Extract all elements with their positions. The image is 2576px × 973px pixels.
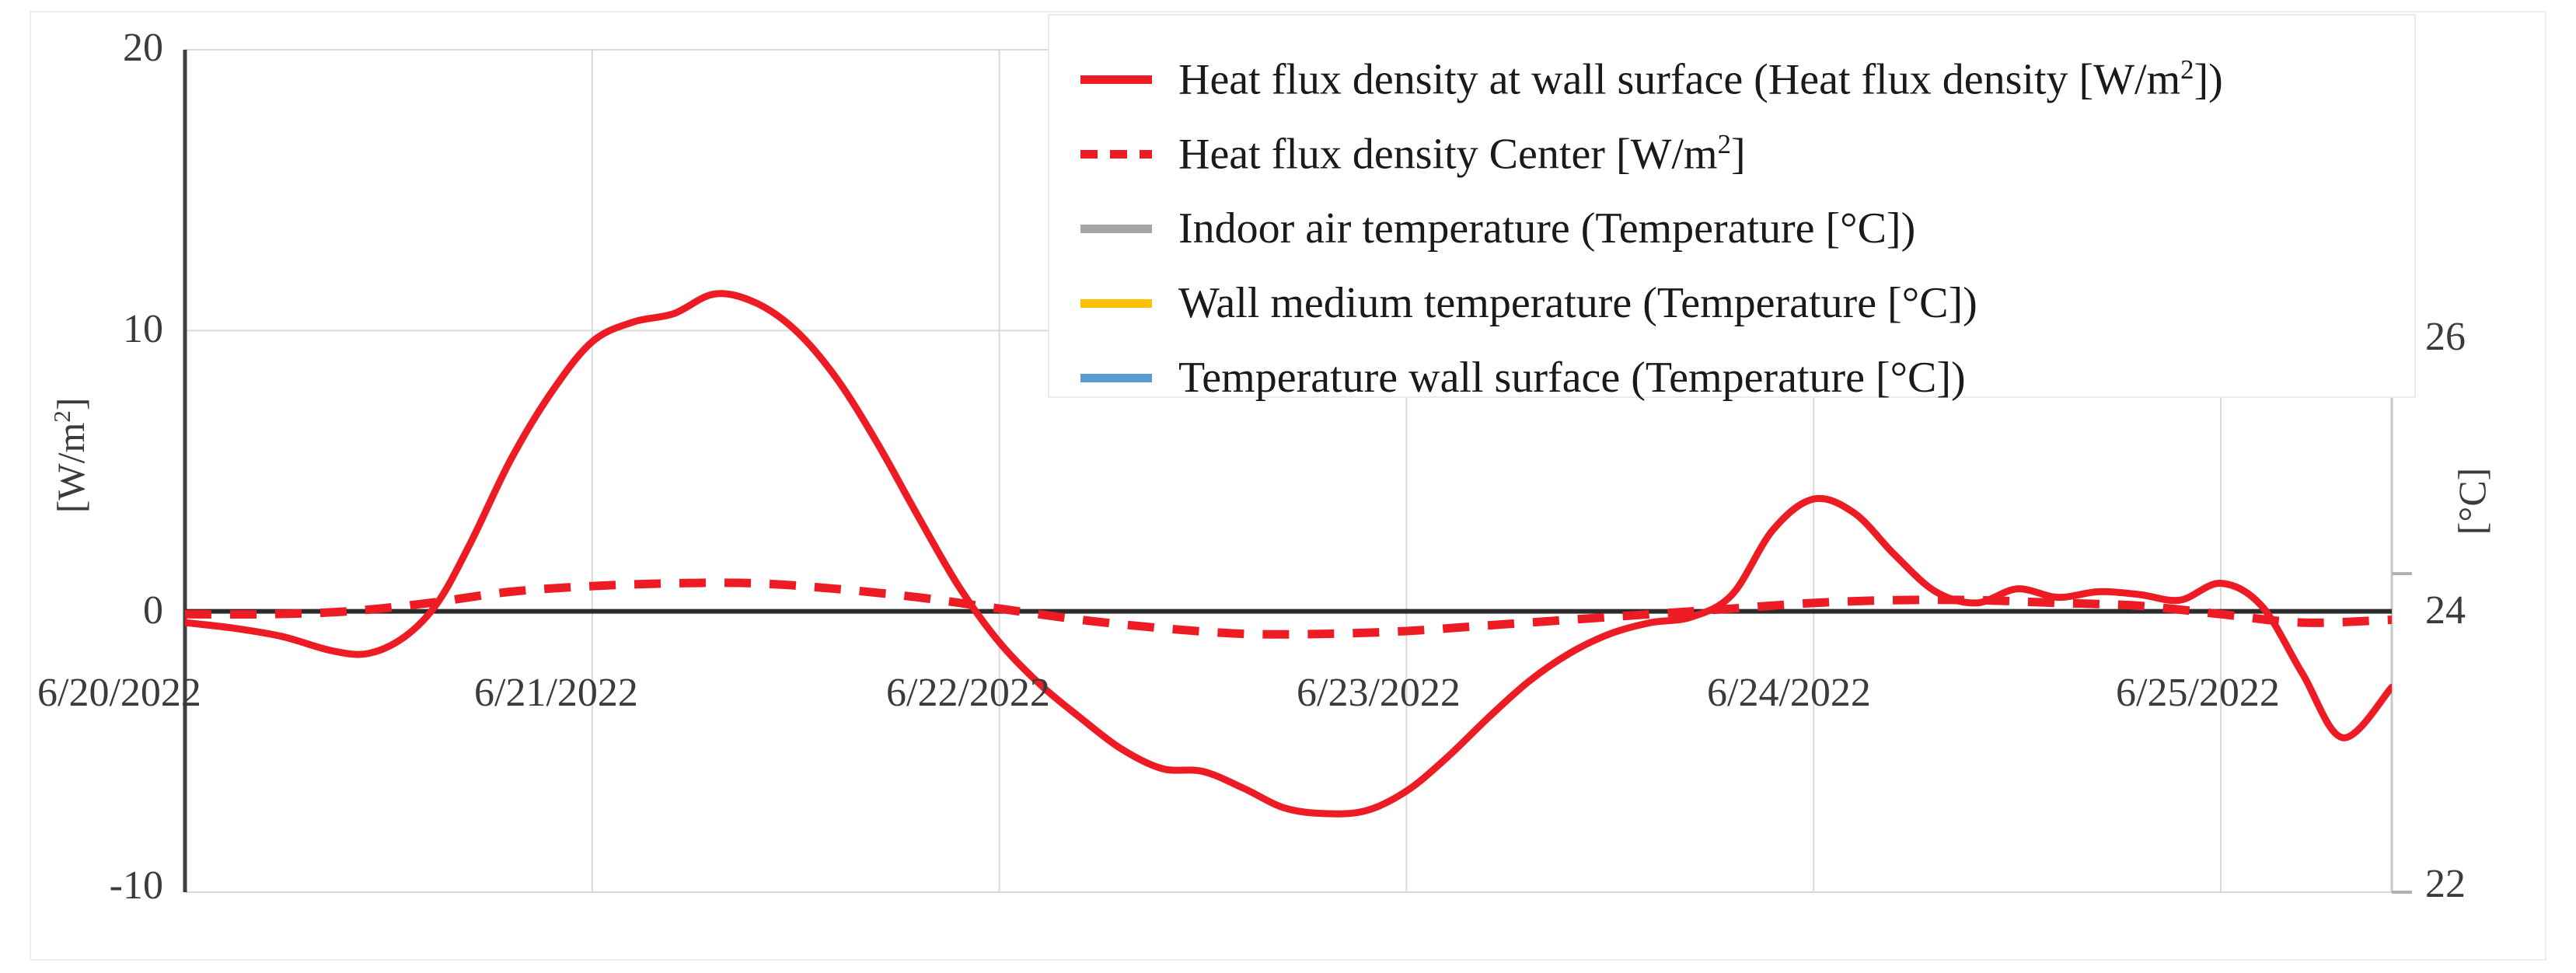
legend-swatch-indoor-air-temperature [1074, 191, 1158, 266]
legend-item-2[interactable]: Indoor air temperature (Temperature [°C]… [1074, 191, 1915, 266]
legend-label-4: Temperature wall surface (Temperature [°… [1178, 356, 1966, 399]
legend-swatch-wall-medium-temperature [1074, 266, 1158, 340]
legend-swatch-heat-flux-center [1074, 117, 1158, 191]
x-tick-label-0: 6/20/2022 [37, 673, 201, 713]
y-left-tick-20: 20 [16, 28, 163, 68]
y-right-tick-26: 26 [2425, 317, 2466, 357]
y-axis-left-title: [W/m2] [50, 339, 90, 572]
legend-label-main-0: Heat flux density at wall surface (Heat … [1178, 56, 2180, 104]
legend-item-0[interactable]: Heat flux density at wall surface (Heat … [1074, 42, 2223, 117]
x-tick-label-3: 6/23/2022 [1297, 673, 1461, 713]
legend-label-sup-0: 2 [2180, 54, 2194, 85]
legend-swatch-heat-flux-wall-surface [1074, 42, 1158, 117]
y-left-tick-neg10: -10 [16, 866, 163, 906]
legend-label-main-2: Indoor air temperature (Temperature [°C]… [1178, 204, 1915, 253]
legend-item-1[interactable]: Heat flux density Center [W/m2] [1074, 117, 1746, 191]
y-axis-left-title-tail: ] [49, 397, 92, 410]
y-axis-left-title-main: [W/m [49, 423, 92, 514]
x-tick-label-5: 6/25/2022 [2116, 673, 2280, 713]
legend-label-1: Heat flux density Center [W/m2] [1178, 131, 1746, 176]
chart-legend: Heat flux density at wall surface (Heat … [1048, 14, 2416, 398]
legend-label-main-1: Heat flux density Center [W/m [1178, 131, 1718, 179]
x-tick-label-4: 6/24/2022 [1707, 673, 1871, 713]
x-tick-label-2: 6/22/2022 [886, 673, 1050, 713]
legend-item-4[interactable]: Temperature wall surface (Temperature [°… [1074, 340, 1966, 415]
legend-label-tail-0: ]) [2194, 56, 2222, 104]
chart-figure: 20 10 0 -10 [W/m2] 26 24 22 [°C] 6/20/20… [0, 0, 2576, 973]
legend-label-2: Indoor air temperature (Temperature [°C]… [1178, 207, 1915, 250]
legend-label-0: Heat flux density at wall surface (Heat … [1178, 57, 2223, 102]
series-line-1 [185, 583, 2392, 634]
legend-label-main-3: Wall medium temperature (Temperature [°C… [1178, 279, 1977, 327]
y-right-tick-22: 22 [2425, 864, 2466, 905]
y-axis-left-title-sup: 2 [48, 410, 75, 423]
legend-label-tail-1: ] [1731, 131, 1746, 179]
legend-swatch-temperature-wall-surface [1074, 340, 1158, 415]
legend-label-main-4: Temperature wall surface (Temperature [°… [1178, 354, 1966, 402]
legend-label-3: Wall medium temperature (Temperature [°C… [1178, 281, 1977, 325]
x-tick-label-1: 6/21/2022 [474, 673, 638, 713]
legend-item-3[interactable]: Wall medium temperature (Temperature [°C… [1074, 266, 1977, 340]
y-left-tick-0: 0 [16, 591, 163, 631]
legend-label-sup-1: 2 [1718, 129, 1731, 159]
y-axis-right-title: [°C] [2452, 385, 2491, 618]
